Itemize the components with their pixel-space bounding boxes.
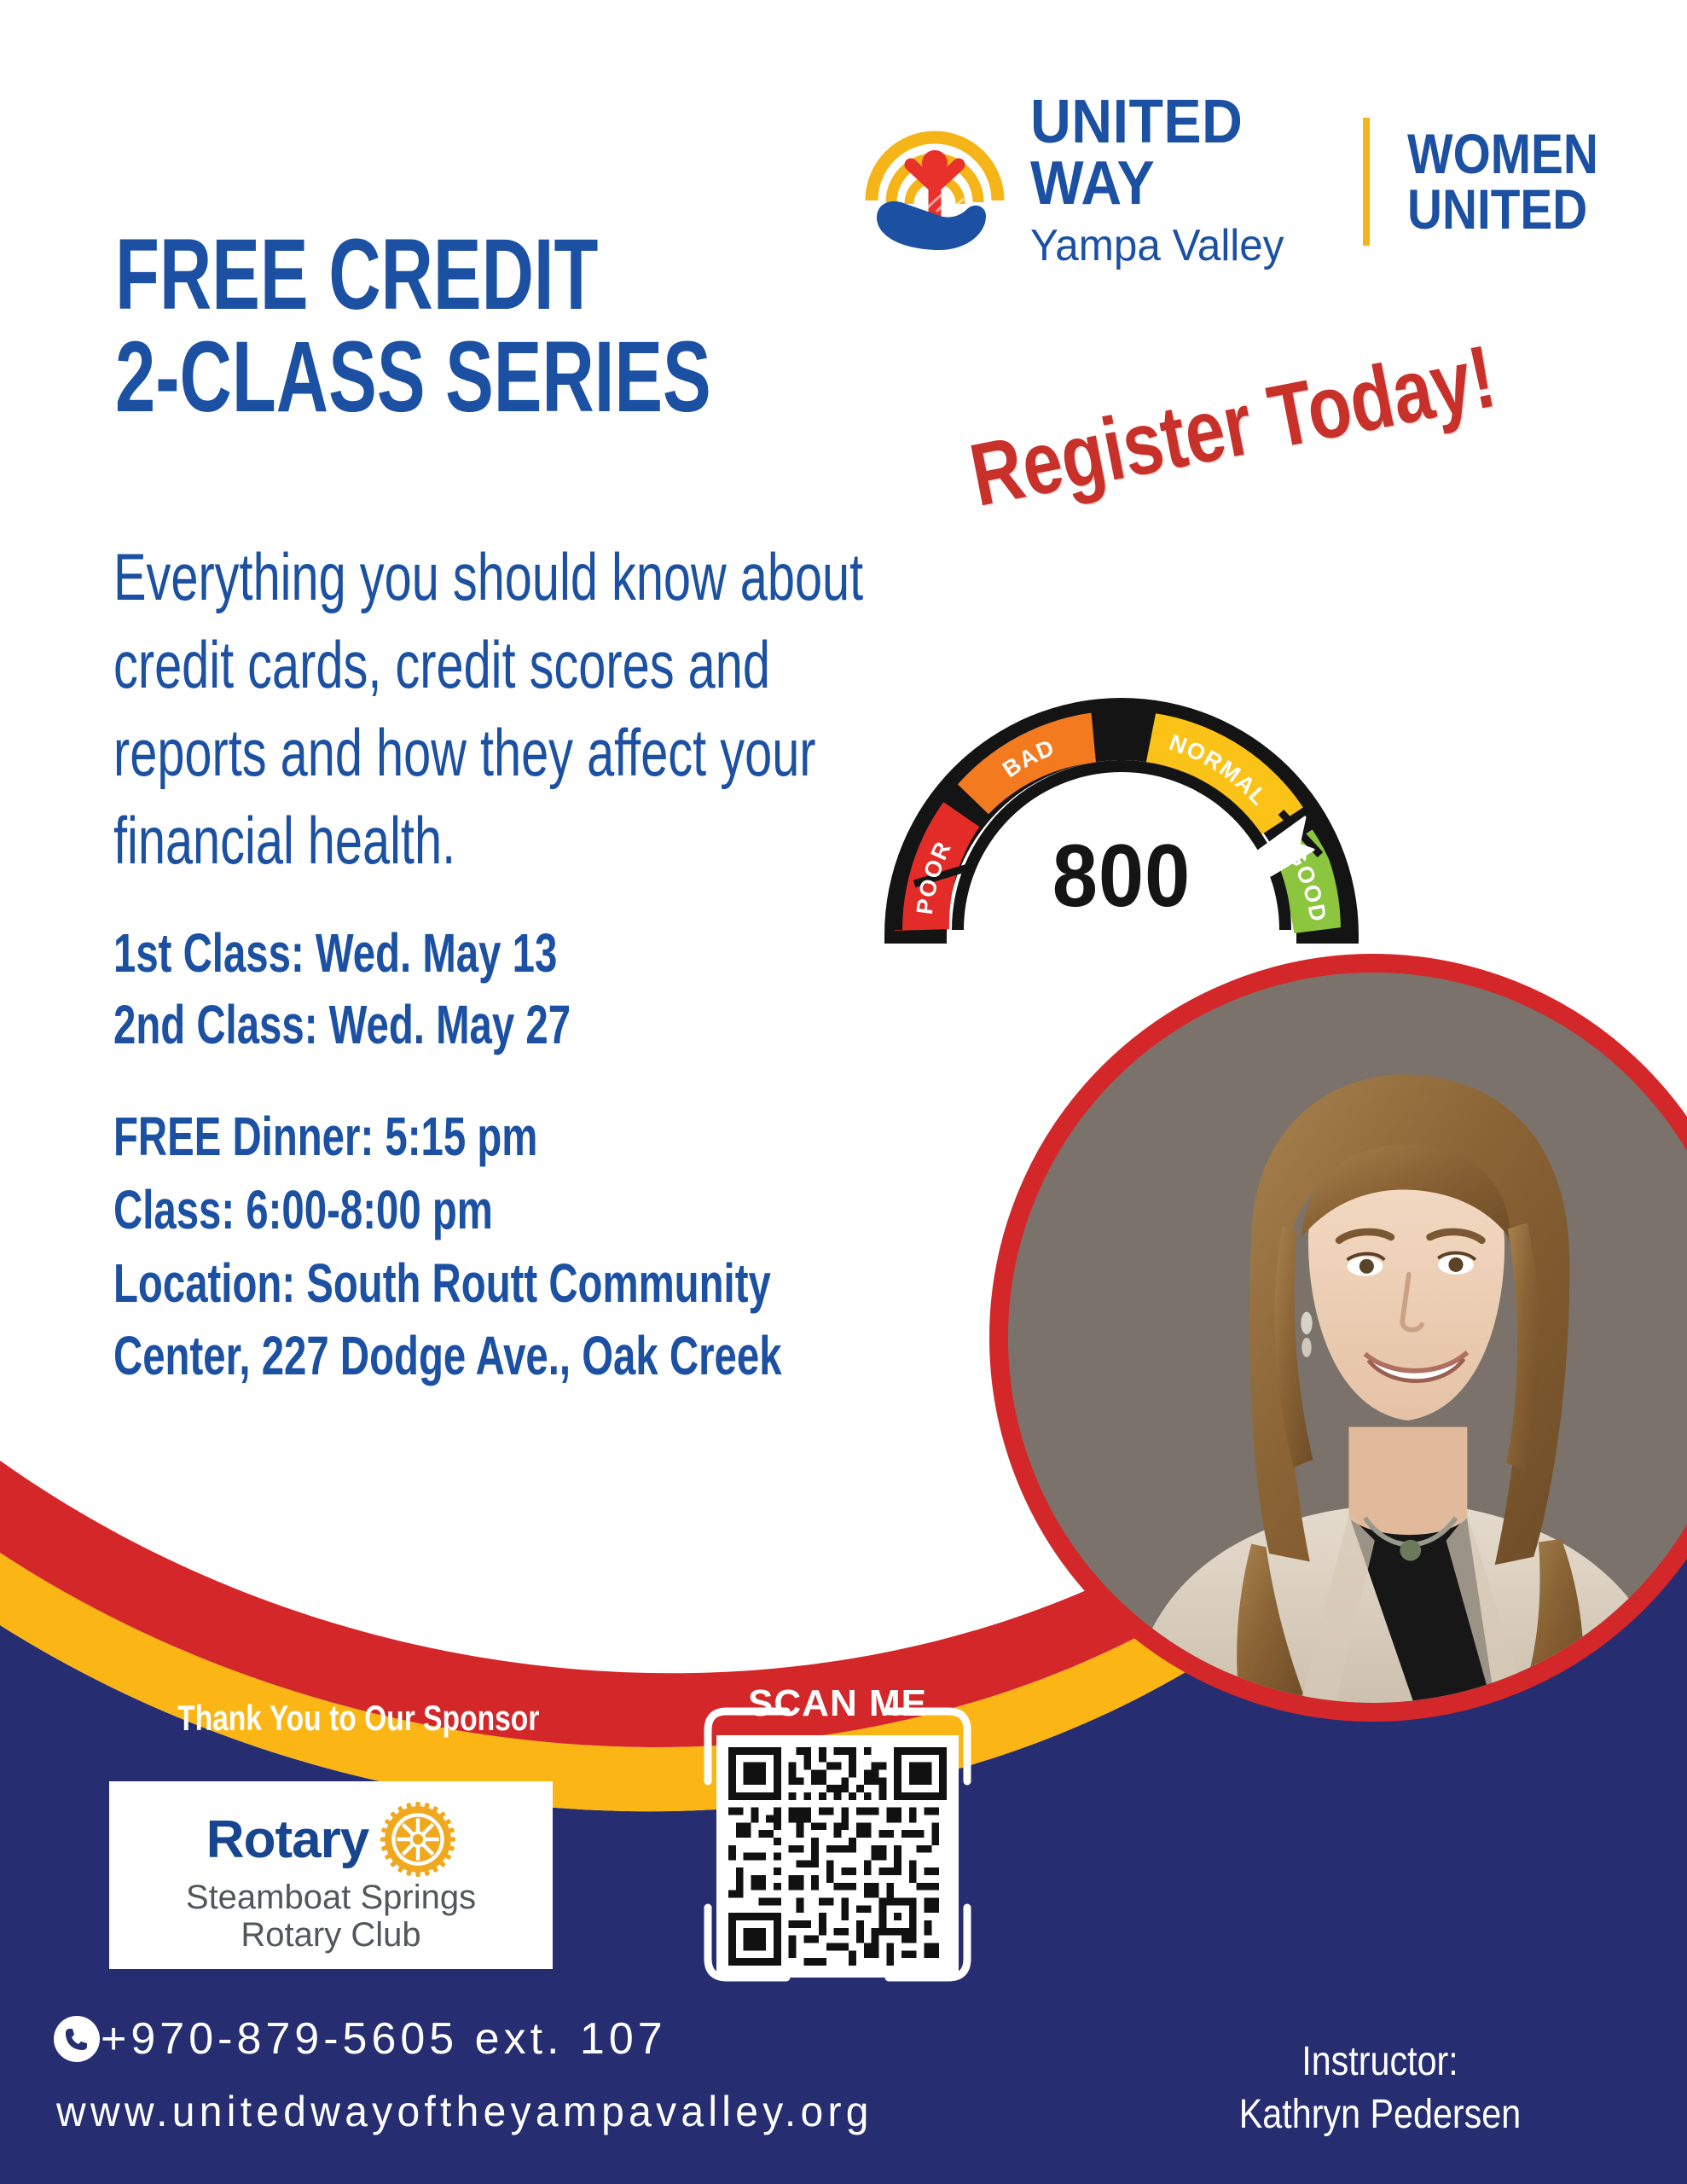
rotary-club-line-1: Steamboat Springs (186, 1879, 476, 1916)
credit-score-gauge-icon: POOR BAD NORMAL GOOD 800 (870, 682, 1373, 955)
detail-dinner: FREE Dinner: 5:15 pm (113, 1101, 757, 1174)
phone-number: +970-879-5605 ext. 107 (101, 2013, 667, 2065)
detail-location-line-1: Location: South Routt Community (113, 1247, 757, 1321)
instructor-name: Kathryn Pedersen (1204, 2088, 1557, 2141)
detail-location-line-2: Center, 227 Dodge Ave., Oak Creek (113, 1320, 757, 1393)
class-date-1: 1st Class: Wed. May 13 (113, 917, 713, 989)
website-url[interactable]: www.unitedwayoftheyampavalley.org (56, 2087, 873, 2136)
description-text: Everything you should know about credit … (113, 533, 907, 885)
headline-line-1: FREE CREDIT (115, 224, 668, 326)
instructor-label: Instructor: (1204, 2036, 1557, 2088)
sponsor-heading: Thank You to Our Sponsor (111, 1698, 606, 1739)
class-dates: 1st Class: Wed. May 13 2nd Class: Wed. M… (113, 917, 924, 1061)
qr-code-image[interactable] (716, 1735, 959, 1978)
phone-contact[interactable]: +970-879-5605 ext. 107 (53, 2013, 667, 2065)
united-way-title: UNITED WAY (1030, 91, 1301, 214)
sponsor-heading-text: Thank You to Our Sponsor (177, 1698, 539, 1739)
flyer-page: UNITED WAY Yampa Valley WOMEN UNITED FRE… (0, 0, 1687, 2184)
rotary-gear-icon (380, 1802, 455, 1877)
description-line-3: reports and how they affect your (113, 709, 700, 797)
united-way-mark-icon (861, 108, 1008, 255)
description-line-1: Everything you should know about (113, 533, 700, 621)
phone-icon (53, 2015, 101, 2063)
page-title: FREE CREDIT 2-CLASS SERIES (115, 224, 883, 429)
rotary-wordmark: Rotary (206, 1809, 368, 1870)
women-united-line2: UNITED (1407, 182, 1598, 237)
rotary-club-line-2: Rotary Club (186, 1916, 476, 1954)
instructor-photo (989, 954, 1687, 1722)
headline-line-2: 2-CLASS SERIES (115, 326, 668, 428)
logo-divider (1363, 118, 1370, 246)
united-way-logo: UNITED WAY Yampa Valley WOMEN UNITED (861, 101, 1629, 263)
class-date-2: 2nd Class: Wed. May 27 (113, 989, 713, 1060)
women-united-line1: WOMEN (1407, 126, 1598, 182)
register-today-callout[interactable]: Register Today! (963, 326, 1504, 527)
event-details: FREE Dinner: 5:15 pm Class: 6:00-8:00 pm… (113, 1101, 983, 1393)
detail-class-time: Class: 6:00-8:00 pm (113, 1174, 757, 1247)
rotary-club-logo: Rotary (109, 1781, 553, 1969)
gauge-score-value: 800 (890, 826, 1354, 927)
description-line-2: credit cards, credit scores and (113, 621, 700, 709)
instructor-caption: Instructor: Kathryn Pedersen (1175, 2036, 1585, 2142)
scan-me-label: SCAN ME (693, 1682, 983, 1725)
qr-code-block[interactable]: SCAN ME (693, 1679, 983, 2010)
description-line-4: financial health. (113, 797, 700, 885)
united-way-subtitle: Yampa Valley (1030, 221, 1310, 272)
